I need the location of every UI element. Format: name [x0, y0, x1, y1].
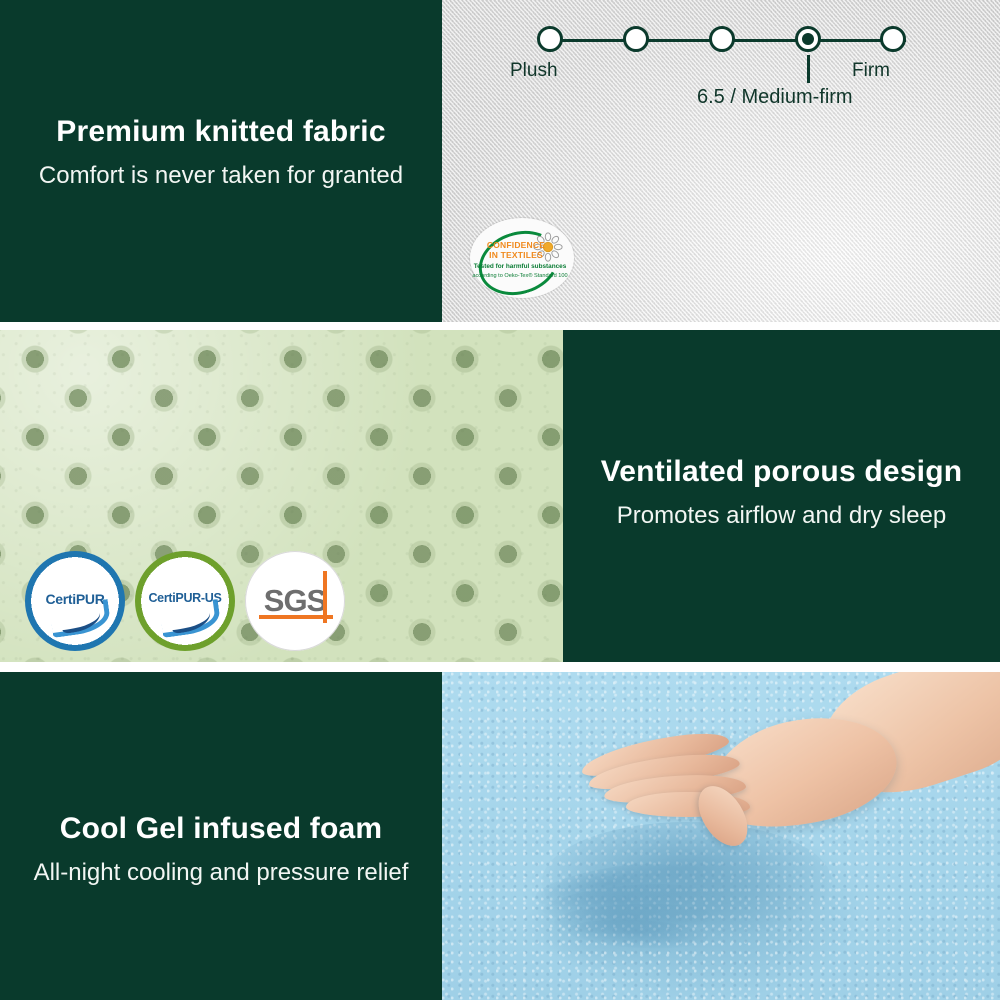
fabric-headline: Premium knitted fabric	[0, 115, 442, 150]
firmness-node-3[interactable]	[709, 26, 735, 52]
row-divider-2	[0, 662, 1000, 672]
oeko-line-3: Tested for harmful substances	[470, 263, 570, 270]
firmness-scale[interactable]: Plush Firm 6.5 / Medium-firm	[442, 0, 1000, 120]
fabric-text-panel: Premium knitted fabric Comfort is never …	[0, 0, 442, 322]
oeko-line-2: IN TEXTILES	[470, 250, 562, 260]
panel-cool-gel-infused-foam: Cool Gel infused foam All-night cooling …	[0, 672, 1000, 1000]
scale-label-plush: Plush	[510, 60, 558, 82]
sgs-horizontal-rule-icon	[259, 615, 333, 619]
oeko-line-1: CONFIDENCE	[470, 240, 562, 250]
selected-tick	[807, 55, 810, 83]
gel-foam-photo	[442, 672, 1000, 1000]
row-divider-1	[0, 322, 1000, 330]
porous-headline: Ventilated porous design	[563, 455, 1000, 490]
gel-subline: All-night cooling and pressure relief	[0, 859, 442, 887]
firmness-node-4-selected[interactable]	[795, 26, 821, 52]
gel-text-panel: Cool Gel infused foam All-night cooling …	[0, 672, 442, 1000]
oeko-tex-badge: CONFIDENCE IN TEXTILES Tested for harmfu…	[470, 218, 574, 298]
sgs-badge: SGS	[245, 551, 345, 651]
gel-headline: Cool Gel infused foam	[0, 812, 442, 847]
scale-label-firm: Firm	[852, 60, 890, 82]
oeko-line-4: according to Oeko-Tex® Standard 100	[470, 273, 570, 279]
porous-subline: Promotes airflow and dry sleep	[563, 502, 1000, 530]
hand-photo	[522, 672, 1000, 862]
firmness-node-5[interactable]	[880, 26, 906, 52]
firmness-node-2[interactable]	[623, 26, 649, 52]
certification-badges: The PU Foam SHE-Standard by Europur AISB…	[25, 551, 355, 651]
sgs-wordmark: SGS	[245, 583, 345, 619]
scale-label-selected: 6.5 / Medium-firm	[697, 86, 853, 109]
porous-text-panel: Ventilated porous design Promotes airflo…	[563, 330, 1000, 662]
firmness-node-1[interactable]	[537, 26, 563, 52]
panel-premium-knitted-fabric: Premium knitted fabric Comfort is never …	[0, 0, 1000, 322]
certipur-us-badge: CONTAINS CERTIFIED FLEXIBLE POLYURETHANE…	[135, 551, 235, 651]
certipur-badge: The PU Foam SHE-Standard by Europur AISB…	[25, 551, 125, 651]
infographic-board: Premium knitted fabric Comfort is never …	[0, 0, 1000, 1000]
fabric-subline: Comfort is never taken for granted	[0, 162, 442, 190]
